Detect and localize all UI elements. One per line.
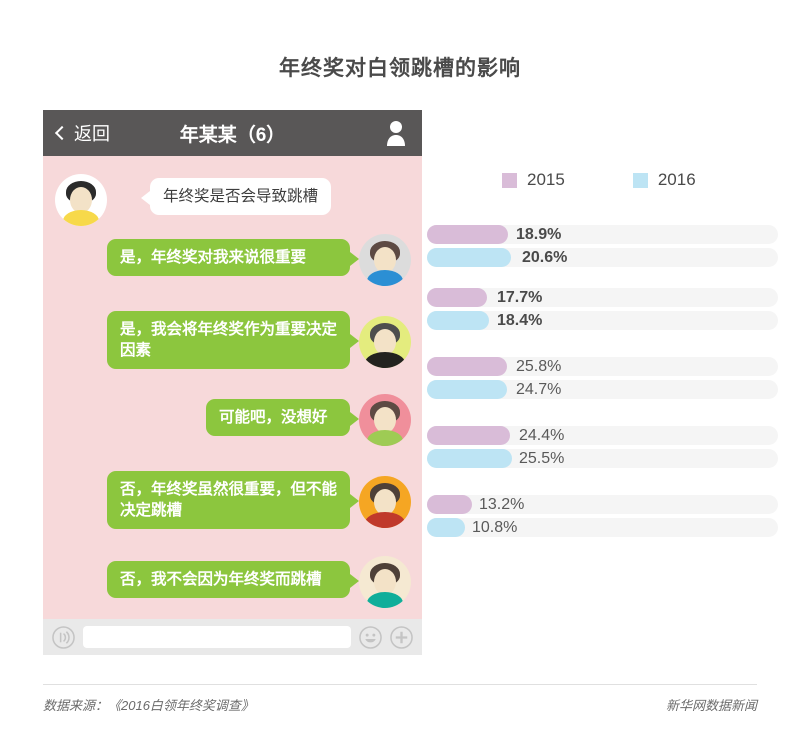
bar-row-2016: 10.8% (427, 518, 778, 537)
footer-divider (43, 684, 757, 685)
legend-label-2016: 2016 (658, 170, 696, 190)
person-icon[interactable] (386, 120, 406, 146)
bubble-tail (350, 494, 359, 508)
bar-group: 18.9% 20.6% (427, 225, 778, 267)
bar-row-2015: 18.9% (427, 225, 778, 244)
chat-bubble-answer[interactable]: 是，年终奖对我来说很重要 (107, 239, 350, 276)
bar-fill-2016 (427, 518, 465, 537)
bar-value-2016: 10.8% (472, 518, 517, 537)
bar-fill-2015 (427, 357, 507, 376)
bar-group: 24.4% 25.5% (427, 426, 778, 468)
chevron-left-icon (55, 126, 69, 140)
footer: 数据来源：《2016白领年终奖调查》 新华网数据新闻 (43, 695, 757, 714)
page-title: 年终奖对白领跳槽的影响 (0, 52, 800, 82)
avatar (359, 476, 411, 528)
bubble-tail (141, 191, 150, 205)
legend-item-2015: 2015 (502, 170, 565, 190)
legend-swatch-2016 (633, 173, 648, 188)
avatar (359, 234, 411, 286)
bar-value-2015: 24.4% (519, 426, 564, 445)
bar-row-2016: 20.6% (427, 248, 778, 267)
bar-group: 13.2% 10.8% (427, 495, 778, 537)
bar-value-2015: 18.9% (516, 225, 561, 244)
legend-label-2015: 2015 (527, 170, 565, 190)
plus-icon[interactable] (390, 626, 413, 649)
chat-messages: 年终奖是否会导致跳槽 是，年终奖对我来说很重要 是，我会将年终奖作为重要决定因素 (43, 156, 422, 621)
bar-value-2015: 25.8% (516, 357, 561, 376)
message-input[interactable] (83, 626, 351, 648)
avatar (359, 394, 411, 446)
back-button[interactable]: 返回 (57, 120, 110, 146)
bar-fill-2015 (427, 225, 508, 244)
smiley-icon[interactable] (359, 626, 382, 649)
phone-mockup: 返回 年某某（6） 年终奖是否会导致跳槽 是，年终 (43, 110, 422, 655)
bubble-tail (350, 252, 359, 266)
bar-value-2015: 17.7% (497, 288, 542, 307)
bar-value-2016: 24.7% (516, 380, 561, 399)
voice-icon[interactable] (52, 626, 75, 649)
chat-bubble-answer[interactable]: 可能吧，没想好 (206, 399, 350, 436)
bar-row-2015: 13.2% (427, 495, 778, 514)
bar-group: 25.8% 24.7% (427, 357, 778, 399)
bar-fill-2016 (427, 449, 512, 468)
bar-fill-2015 (427, 288, 487, 307)
bar-row-2016: 18.4% (427, 311, 778, 330)
chat-bubble-answer[interactable]: 否，年终奖虽然很重要，但不能决定跳槽 (107, 471, 350, 529)
bubble-tail (350, 412, 359, 426)
bar-value-2016: 20.6% (522, 248, 567, 267)
data-source-label: 数据来源：《2016白领年终奖调查》 (43, 695, 254, 714)
avatar (55, 174, 107, 226)
bar-value-2015: 13.2% (479, 495, 524, 514)
bar-group: 17.7% 18.4% (427, 288, 778, 330)
chat-bubble-answer[interactable]: 否，我不会因为年终奖而跳槽 (107, 561, 350, 598)
chart-legend: 2015 2016 (502, 170, 696, 190)
legend-item-2016: 2016 (633, 170, 696, 190)
back-button-label: 返回 (74, 120, 110, 146)
bar-value-2016: 18.4% (497, 311, 542, 330)
bar-fill-2016 (427, 380, 507, 399)
credit-label: 新华网数据新闻 (666, 695, 757, 714)
bar-row-2015: 17.7% (427, 288, 778, 307)
bubble-tail (350, 574, 359, 588)
bubble-tail (350, 334, 359, 348)
message-input-bar (43, 619, 422, 655)
bar-row-2016: 24.7% (427, 380, 778, 399)
bar-row-2015: 24.4% (427, 426, 778, 445)
bar-fill-2016 (427, 311, 489, 330)
chat-bubble-answer[interactable]: 是，我会将年终奖作为重要决定因素 (107, 311, 350, 369)
bar-fill-2015 (427, 426, 510, 445)
bar-row-2015: 25.8% (427, 357, 778, 376)
chat-bubble-question[interactable]: 年终奖是否会导致跳槽 (150, 178, 331, 215)
legend-swatch-2015 (502, 173, 517, 188)
avatar (359, 556, 411, 608)
phone-header: 返回 年某某（6） (43, 110, 422, 156)
bar-fill-2015 (427, 495, 472, 514)
bar-chart: 18.9% 20.6% 17.7% 18.4% 25.8% 24.7% (427, 225, 778, 558)
avatar (359, 316, 411, 368)
bar-fill-2016 (427, 248, 511, 267)
bar-row-2016: 25.5% (427, 449, 778, 468)
bar-value-2016: 25.5% (519, 449, 564, 468)
